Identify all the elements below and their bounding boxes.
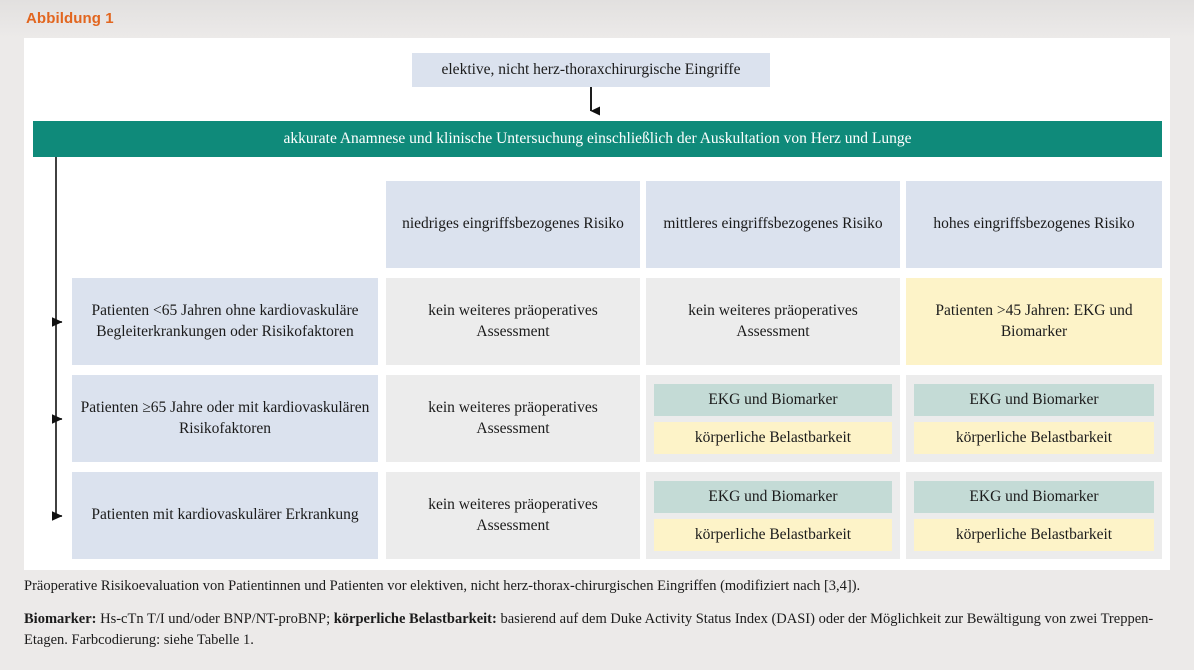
row-header-cardiovascular-disease: Patienten mit kardiovaskulärer Erkrankun…	[72, 472, 378, 559]
cell-r2c2-split: EKG und Biomarker körperliche Belastbark…	[646, 472, 900, 559]
banner-history-and-examination: akkurate Anamnese und klinische Untersuc…	[33, 121, 1162, 157]
column-header-low-risk: niedriges eingriffsbezogenes Risiko	[386, 181, 640, 268]
column-header-intermediate-risk: mittleres eingriffsbezogenes Risiko	[646, 181, 900, 268]
cell-r1c1-no-further-assessment: kein weiteres präoperatives Assessment	[386, 375, 640, 462]
cell-r1c3-split: EKG und Biomarker körperliche Belastbark…	[906, 375, 1162, 462]
cell-r2c3-split: EKG und Biomarker körperliche Belastbark…	[906, 472, 1162, 559]
figure-label: Abbildung 1	[26, 10, 114, 27]
strip-physical-capacity: körperliche Belastbarkeit	[654, 519, 892, 551]
strip-ecg-biomarker: EKG und Biomarker	[654, 481, 892, 513]
caption-line-2: Biomarker: Hs-cTn T/I und/oder BNP/NT-pr…	[24, 609, 1174, 651]
column-header-high-risk: hohes eingriffsbezogenes Risiko	[906, 181, 1162, 268]
caption-bold-biomarker: Biomarker:	[24, 611, 96, 627]
strip-ecg-biomarker: EKG und Biomarker	[914, 384, 1154, 416]
strip-physical-capacity: körperliche Belastbarkeit	[654, 422, 892, 454]
diagram-canvas: elektive, nicht herz-thoraxchirurgische …	[24, 38, 1170, 570]
cell-r0c1-no-further-assessment: kein weiteres präoperatives Assessment	[386, 278, 640, 365]
row-header-over-65-or-risk-factors: Patienten ≥65 Jahre oder mit kardiovasku…	[72, 375, 378, 462]
cell-r0c2-no-further-assessment: kein weiteres präoperatives Assessment	[646, 278, 900, 365]
strip-physical-capacity: körperliche Belastbarkeit	[914, 422, 1154, 454]
caption-bold-belastbarkeit: körperliche Belastbarkeit:	[334, 611, 497, 627]
cell-r2c1-no-further-assessment: kein weiteres präoperatives Assessment	[386, 472, 640, 559]
figure-header-band: Abbildung 1	[0, 0, 1194, 38]
caption-text-biomarker: Hs-cTn T/I und/oder BNP/NT-proBNP;	[96, 611, 333, 627]
cell-r0c3-over-45-ecg-biomarker: Patienten >45 Jahren: EKG und Biomarker	[906, 278, 1162, 365]
caption-line-1: Präoperative Risikoevaluation von Patien…	[24, 576, 1174, 597]
strip-ecg-biomarker: EKG und Biomarker	[914, 481, 1154, 513]
strip-ecg-biomarker: EKG und Biomarker	[654, 384, 892, 416]
strip-physical-capacity: körperliche Belastbarkeit	[914, 519, 1154, 551]
figure-container: Abbildung 1 elektive, nicht herz-tho	[0, 0, 1194, 670]
cell-r1c2-split: EKG und Biomarker körperliche Belastbark…	[646, 375, 900, 462]
entry-box-elective-surgery: elektive, nicht herz-thoraxchirurgische …	[412, 53, 770, 87]
row-header-under-65-no-comorbidity: Patienten <65 Jahren ohne kardiovaskulär…	[72, 278, 378, 365]
